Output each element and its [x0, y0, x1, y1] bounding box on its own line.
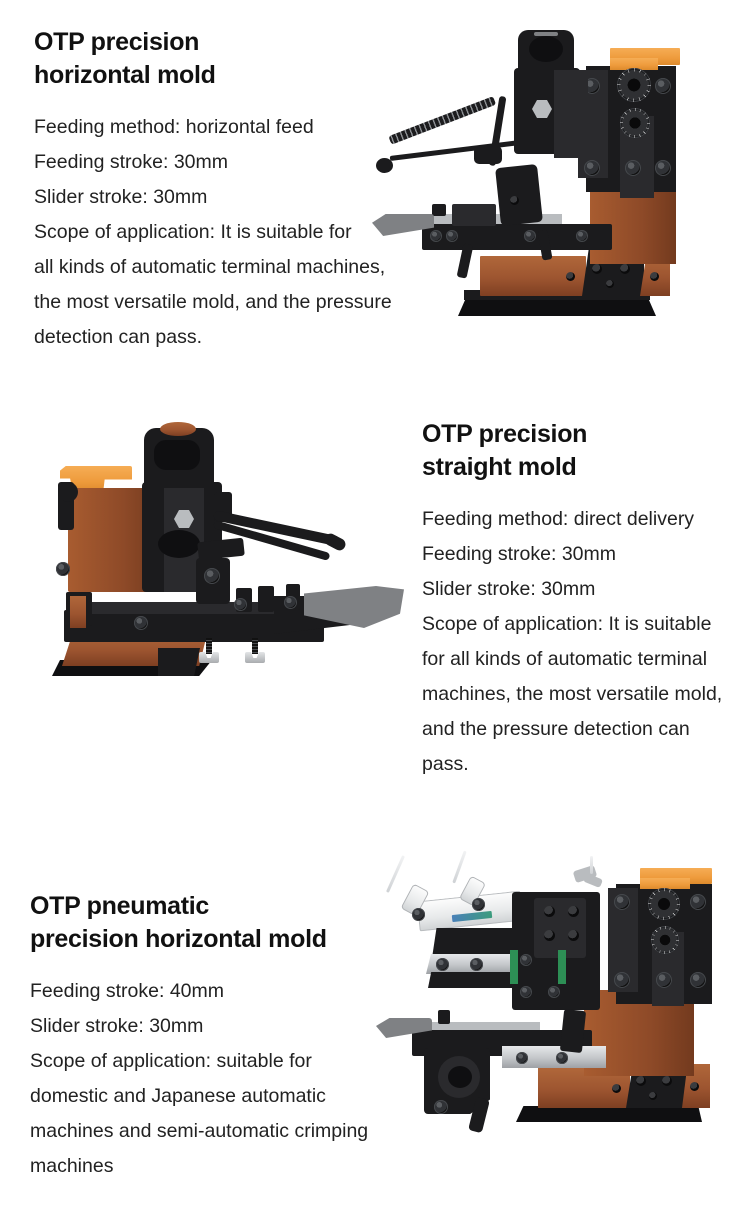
product-image-pneumatic-mold — [376, 850, 744, 1150]
adjustment-dial-lower — [651, 926, 679, 954]
product-illustration — [368, 8, 740, 338]
spec-scope-of-application: Scope of application: It is suitable for… — [34, 215, 394, 355]
thumbscrew-left — [198, 638, 220, 666]
adjustment-dial-lower — [620, 108, 650, 138]
product-image-straight-mold — [18, 410, 410, 710]
product-text-column: OTP precision horizontal mold Feeding me… — [34, 26, 394, 355]
spec-slider-stroke: Slider stroke: 30mm — [422, 572, 734, 607]
product-image-horizontal-mold — [368, 8, 740, 338]
product-title: OTP precision straight mold — [422, 418, 734, 484]
product-text-column: OTP precision straight mold Feeding meth… — [422, 418, 734, 782]
spec-slider-stroke: Slider stroke: 30mm — [34, 180, 394, 215]
spec-feeding-method: Feeding method: direct delivery — [422, 502, 734, 537]
thumbscrew-right — [244, 638, 266, 666]
product-block-straight-mold: OTP precision straight mold Feeding meth… — [0, 400, 750, 820]
product-illustration — [376, 850, 744, 1150]
spec-feeding-stroke: Feeding stroke: 30mm — [422, 537, 734, 572]
product-block-horizontal-mold: OTP precision horizontal mold Feeding me… — [0, 0, 750, 400]
adjustment-dial-upper — [617, 68, 651, 102]
adjustment-dial-upper — [648, 888, 680, 920]
spec-scope-of-application: Scope of application: It is suitable for… — [422, 607, 734, 782]
product-title: OTP precision horizontal mold — [34, 26, 394, 92]
product-block-pneumatic-mold: OTP pneumatic precision horizontal mold … — [0, 840, 750, 1206]
spec-feeding-method: Feeding method: horizontal feed — [34, 110, 394, 145]
product-illustration — [18, 410, 410, 710]
spec-feeding-stroke: Feeding stroke: 30mm — [34, 145, 394, 180]
